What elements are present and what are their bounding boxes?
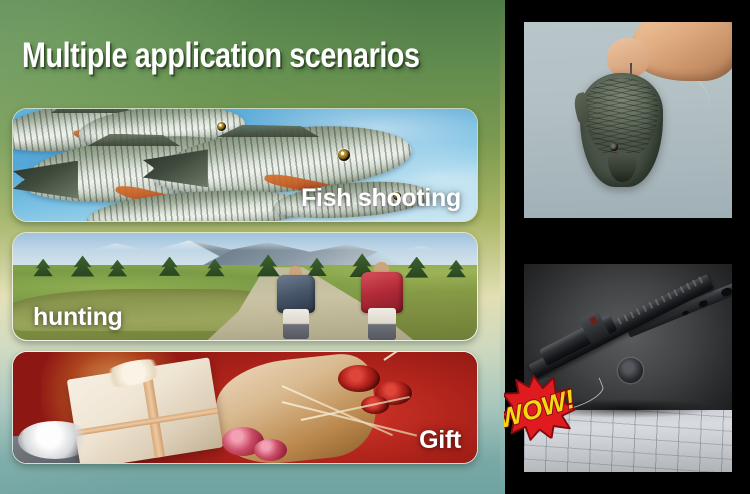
scene-card-hunting[interactable]: hunting bbox=[12, 232, 478, 341]
hiker-with-red-pack bbox=[361, 272, 403, 338]
crossbow-cam-wheel bbox=[618, 358, 643, 383]
scene-label-fish-shooting: Fish shooting bbox=[301, 184, 461, 213]
hiker-with-gray-pack bbox=[277, 275, 314, 337]
page-title: Multiple application scenarios bbox=[22, 36, 399, 76]
promo-poster: Multiple application scenarios bbox=[0, 0, 750, 494]
product-panel-catch-result[interactable] bbox=[504, 0, 750, 238]
finger bbox=[607, 38, 649, 77]
gift-photo bbox=[13, 352, 477, 463]
scene-label-gift: Gift bbox=[419, 426, 461, 455]
scene-card-fish-shooting[interactable]: Fish shooting bbox=[12, 108, 478, 222]
caught-carp bbox=[580, 73, 663, 187]
catch-result-photo bbox=[524, 22, 732, 218]
pink-bauble bbox=[254, 439, 286, 461]
red-rose bbox=[338, 365, 380, 392]
backpack-gray bbox=[277, 275, 314, 313]
crossbow-product-photo bbox=[524, 264, 732, 472]
carp-eye bbox=[610, 143, 617, 151]
scene-card-gift[interactable]: Gift bbox=[12, 351, 478, 464]
scene-label-hunting: hunting bbox=[33, 303, 123, 332]
wow-badge: WOW! bbox=[504, 369, 580, 445]
backpack-red bbox=[361, 272, 403, 313]
hiker-body bbox=[368, 308, 396, 340]
scenarios-column: Multiple application scenarios bbox=[0, 0, 504, 494]
silver-ornament bbox=[18, 421, 92, 459]
product-panel-crossbow[interactable]: WOW! bbox=[504, 246, 750, 494]
carp-head bbox=[608, 153, 636, 183]
product-column: WOW! bbox=[504, 0, 750, 494]
hiker-body bbox=[283, 309, 308, 339]
carp-fin bbox=[572, 92, 592, 124]
